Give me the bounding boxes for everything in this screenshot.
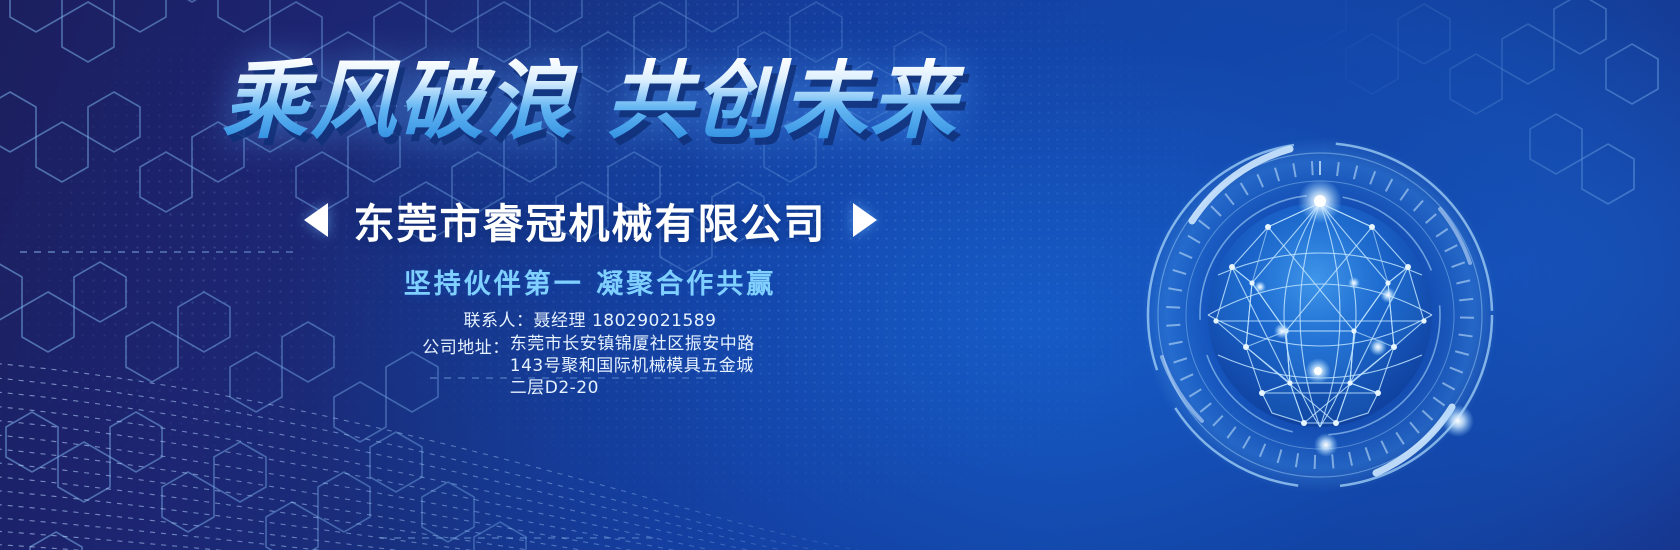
company-name: 东莞市睿冠机械有限公司 (354, 190, 827, 250)
address-label: 公司地址： (422, 333, 510, 358)
address-value: 东莞市长安镇锦厦社区振安中路143号聚和国际机械模具五金城二层D2-20 (510, 333, 758, 399)
banner-content: 乘风破浪 共创未来 东莞市睿冠机械有限公司 坚持伙伴第一 凝聚合作共赢 联系人：… (0, 0, 1100, 550)
contact-person-line: 联系人：聂经理 18029021589 (464, 310, 717, 333)
right-triangle-icon (853, 203, 877, 237)
company-address-row: 公司地址： 东莞市长安镇锦厦社区振安中路143号聚和国际机械模具五金城二层D2-… (422, 333, 758, 399)
promo-banner: 乘风破浪 共创未来 东莞市睿冠机械有限公司 坚持伙伴第一 凝聚合作共赢 联系人：… (0, 0, 1680, 550)
contact-block: 联系人：聂经理 18029021589 公司地址： 东莞市长安镇锦厦社区振安中路… (0, 310, 1180, 399)
headline-text: 乘风破浪 共创未来 (0, 58, 1180, 144)
company-name-row: 东莞市睿冠机械有限公司 (0, 190, 1180, 250)
left-triangle-icon (304, 203, 328, 237)
slogan-text: 坚持伙伴第一 凝聚合作共赢 (0, 262, 1180, 301)
tech-globe-graphic (1140, 135, 1500, 495)
